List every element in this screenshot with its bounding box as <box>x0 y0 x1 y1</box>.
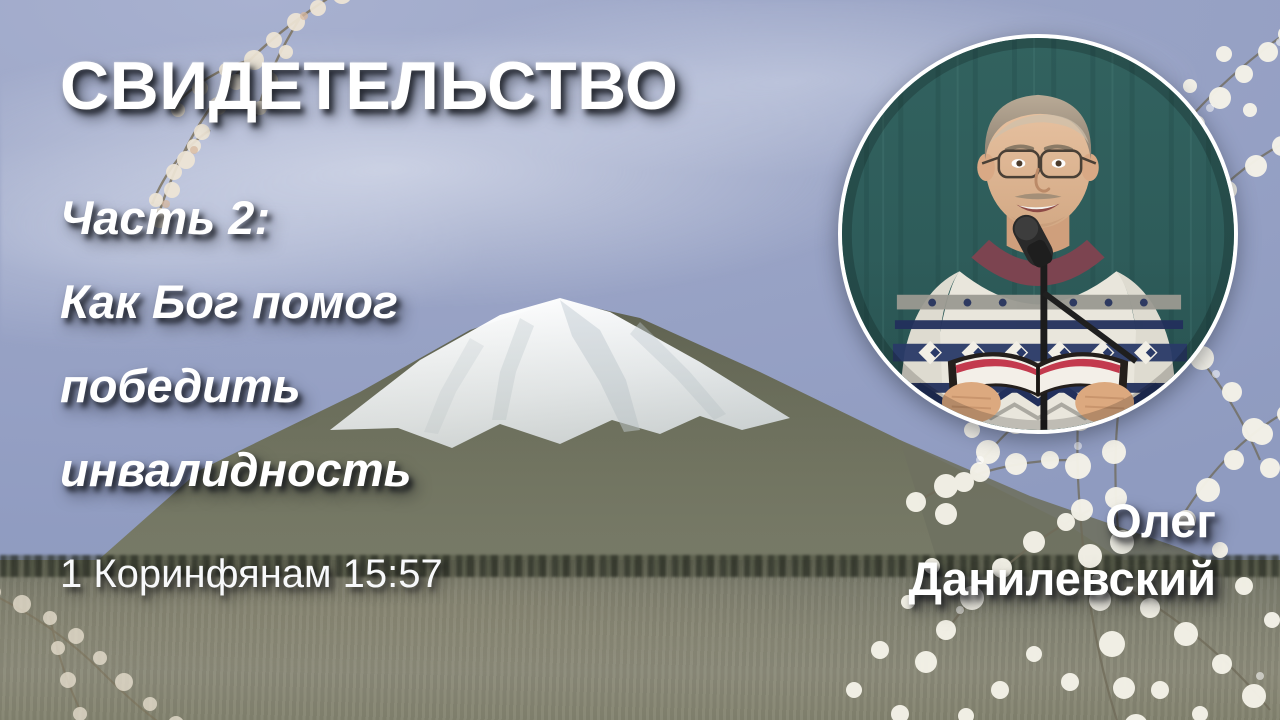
slide-subtitle: Часть 2: Как Бог помог победить инвалидн… <box>60 176 412 512</box>
subtitle-line-2: Как Бог помог <box>60 260 412 344</box>
subtitle-line-1: Часть 2: <box>60 176 412 260</box>
speaker-last-name: Данилевский <box>909 550 1216 608</box>
slide-title: СВИДЕТЕЛЬСТВО <box>60 52 678 120</box>
speaker-portrait-svg <box>842 38 1234 430</box>
speaker-first-name: Олег <box>909 492 1216 550</box>
speaker-name: Олег Данилевский <box>909 492 1216 608</box>
scripture-reference: 1 Коринфянам 15:57 <box>60 552 443 596</box>
subtitle-line-3: победить <box>60 344 412 428</box>
subtitle-line-4: инвалидность <box>60 428 412 512</box>
slide-canvas: СВИДЕТЕЛЬСТВО Часть 2: Как Бог помог поб… <box>0 0 1280 720</box>
speaker-portrait <box>838 34 1238 434</box>
